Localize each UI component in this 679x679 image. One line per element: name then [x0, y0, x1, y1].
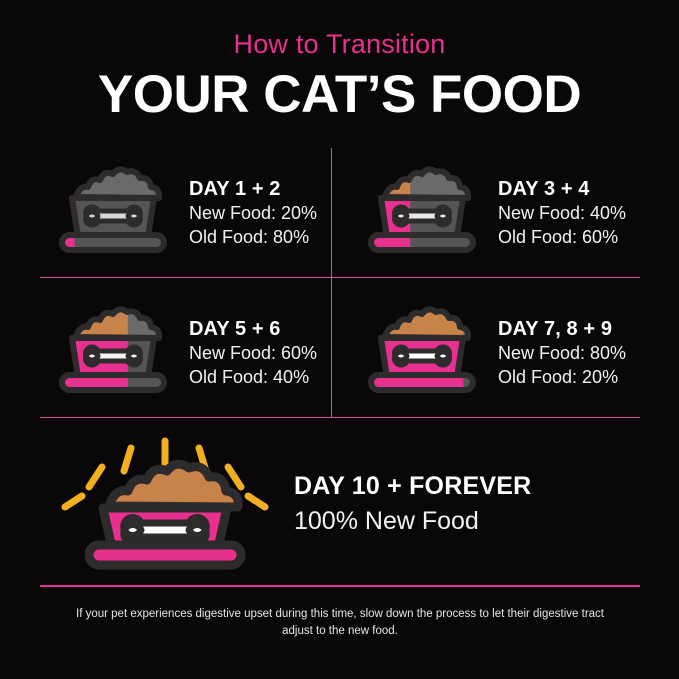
- step-new-food: New Food: 20%: [189, 202, 331, 226]
- header: How to Transition YOUR CAT’S FOOD: [0, 0, 679, 123]
- bone-icon: [85, 347, 140, 365]
- step-text: DAY 7, 8 + 9 New Food: 80% Old Food: 20%: [494, 317, 640, 390]
- step-text: DAY 1 + 2 New Food: 20% Old Food: 80%: [185, 177, 331, 250]
- transition-step-card: DAY 5 + 6 New Food: 60% Old Food: 40%: [40, 288, 331, 418]
- bowl-icon-container: [40, 307, 185, 399]
- step-text: DAY 5 + 6 New Food: 60% Old Food: 40%: [185, 317, 331, 390]
- bone-icon: [85, 207, 140, 225]
- cat-food-bowl-icon: [48, 307, 178, 399]
- step-text: DAY 3 + 4 New Food: 40% Old Food: 60%: [494, 177, 640, 250]
- step-old-food: Old Food: 80%: [189, 226, 331, 250]
- finale-subtitle: 100% New Food: [294, 505, 640, 539]
- bone-icon: [394, 347, 449, 365]
- footer-note: If your pet experiences digestive upset …: [70, 606, 610, 639]
- bone-icon: [124, 517, 207, 542]
- bone-icon: [394, 207, 449, 225]
- step-old-food: Old Food: 20%: [498, 366, 640, 390]
- cat-food-bowl-icon: [357, 167, 487, 259]
- bowl-icon-container: [40, 167, 185, 259]
- transition-step-card: DAY 3 + 4 New Food: 40% Old Food: 60%: [349, 148, 640, 278]
- transition-steps-grid: DAY 1 + 2 New Food: 20% Old Food: 80%: [40, 148, 640, 418]
- divider-footer: [40, 585, 640, 587]
- bowl-icon-container: [349, 167, 494, 259]
- step-day-label: DAY 3 + 4: [498, 177, 640, 202]
- finale-bowl-container: [40, 435, 290, 575]
- step-new-food: New Food: 40%: [498, 202, 640, 226]
- step-old-food: Old Food: 40%: [189, 366, 331, 390]
- finale-day-label: DAY 10 + FOREVER: [294, 470, 640, 503]
- bowl-icon-container: [349, 307, 494, 399]
- eyebrow-title: How to Transition: [0, 30, 679, 60]
- transition-step-card: DAY 7, 8 + 9 New Food: 80% Old Food: 20%: [349, 288, 640, 418]
- cat-food-bowl-celebration-icon: [65, 435, 265, 575]
- infographic-root: How to Transition YOUR CAT’S FOOD: [0, 0, 679, 679]
- step-old-food: Old Food: 60%: [498, 226, 640, 250]
- step-day-label: DAY 7, 8 + 9: [498, 317, 640, 342]
- transition-step-card: DAY 1 + 2 New Food: 20% Old Food: 80%: [40, 148, 331, 278]
- step-day-label: DAY 1 + 2: [189, 177, 331, 202]
- finale-row: DAY 10 + FOREVER 100% New Food: [40, 432, 640, 577]
- page-title: YOUR CAT’S FOOD: [0, 66, 679, 123]
- finale-text: DAY 10 + FOREVER 100% New Food: [290, 470, 640, 538]
- step-new-food: New Food: 80%: [498, 342, 640, 366]
- step-day-label: DAY 5 + 6: [189, 317, 331, 342]
- cat-food-bowl-icon: [357, 307, 487, 399]
- cat-food-bowl-icon: [48, 167, 178, 259]
- step-new-food: New Food: 60%: [189, 342, 331, 366]
